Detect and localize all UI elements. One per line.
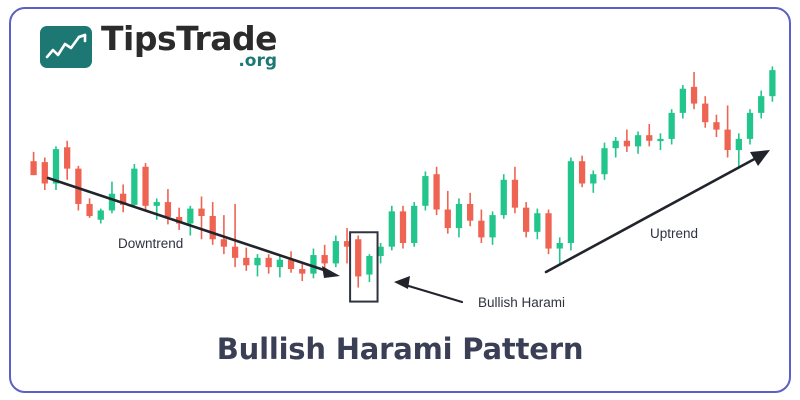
candle-body xyxy=(86,204,92,216)
candle-body xyxy=(478,221,484,238)
candle-body xyxy=(445,210,451,229)
candle-body xyxy=(601,148,607,174)
candle-body xyxy=(724,130,730,150)
candle-body xyxy=(64,147,70,168)
candle-body xyxy=(657,139,663,141)
candle-body xyxy=(389,211,395,246)
candle-body xyxy=(669,113,675,139)
candle-body xyxy=(266,258,272,267)
candle-body xyxy=(456,204,462,228)
candle-body xyxy=(400,211,406,243)
candle-body xyxy=(568,161,574,243)
candle-body xyxy=(646,135,652,141)
downtrend-arrow xyxy=(48,178,340,278)
candle-body xyxy=(680,89,686,113)
candle-body xyxy=(613,141,619,148)
candle-body xyxy=(210,216,216,239)
bullish-harami-callout-arrow xyxy=(394,276,462,302)
candle-body xyxy=(322,255,328,263)
downtrend-label: Downtrend xyxy=(118,236,183,251)
candle-body xyxy=(254,258,260,265)
candle-body xyxy=(747,113,753,139)
candle-body xyxy=(579,161,585,183)
candle-body xyxy=(333,241,339,263)
candle-body xyxy=(165,202,171,217)
candle-body xyxy=(501,180,507,215)
candle-body xyxy=(489,215,495,237)
candle-body xyxy=(433,174,439,209)
candle-body xyxy=(310,255,316,274)
candle-body xyxy=(467,204,473,221)
candle-series xyxy=(30,66,775,287)
candle-body xyxy=(624,141,630,147)
candle-body xyxy=(635,135,641,146)
candle-body xyxy=(411,206,417,243)
candle-body xyxy=(299,269,305,274)
candle-body xyxy=(154,202,160,206)
page-title: Bullish Harami Pattern xyxy=(0,332,800,366)
candle-body xyxy=(736,139,742,150)
candle-body xyxy=(702,104,708,123)
candle-body xyxy=(243,258,249,265)
candle-body xyxy=(42,162,48,183)
bullish-harami-label: Bullish Harami xyxy=(478,295,565,310)
candle-body xyxy=(131,169,137,205)
candle-body xyxy=(109,194,115,211)
candle-body xyxy=(713,122,719,129)
candle-body xyxy=(691,87,697,104)
candle-body xyxy=(221,239,227,246)
infographic-canvas: TipsTrade .org Downtrend Uptrend Bullish… xyxy=(0,0,800,400)
candle-body xyxy=(512,180,518,208)
candle-body xyxy=(53,149,59,183)
candle-body xyxy=(187,209,193,224)
candle-body xyxy=(232,247,238,258)
candle-body xyxy=(198,209,204,216)
candle-body xyxy=(98,210,104,219)
bullish-harami-highlight-box xyxy=(350,232,377,301)
candle-body xyxy=(534,213,540,232)
candle-body xyxy=(142,167,148,206)
candle-body xyxy=(366,256,372,275)
candle-body xyxy=(545,213,551,248)
uptrend-label: Uptrend xyxy=(650,226,698,241)
candle-body xyxy=(355,239,361,276)
candle-body xyxy=(769,70,775,96)
candle-body xyxy=(422,176,428,206)
candle-body xyxy=(30,161,36,175)
candle-body xyxy=(557,243,563,249)
candle-body xyxy=(523,208,529,232)
candle-body xyxy=(590,174,596,183)
candle-body xyxy=(277,260,283,267)
candle-body xyxy=(758,96,764,113)
